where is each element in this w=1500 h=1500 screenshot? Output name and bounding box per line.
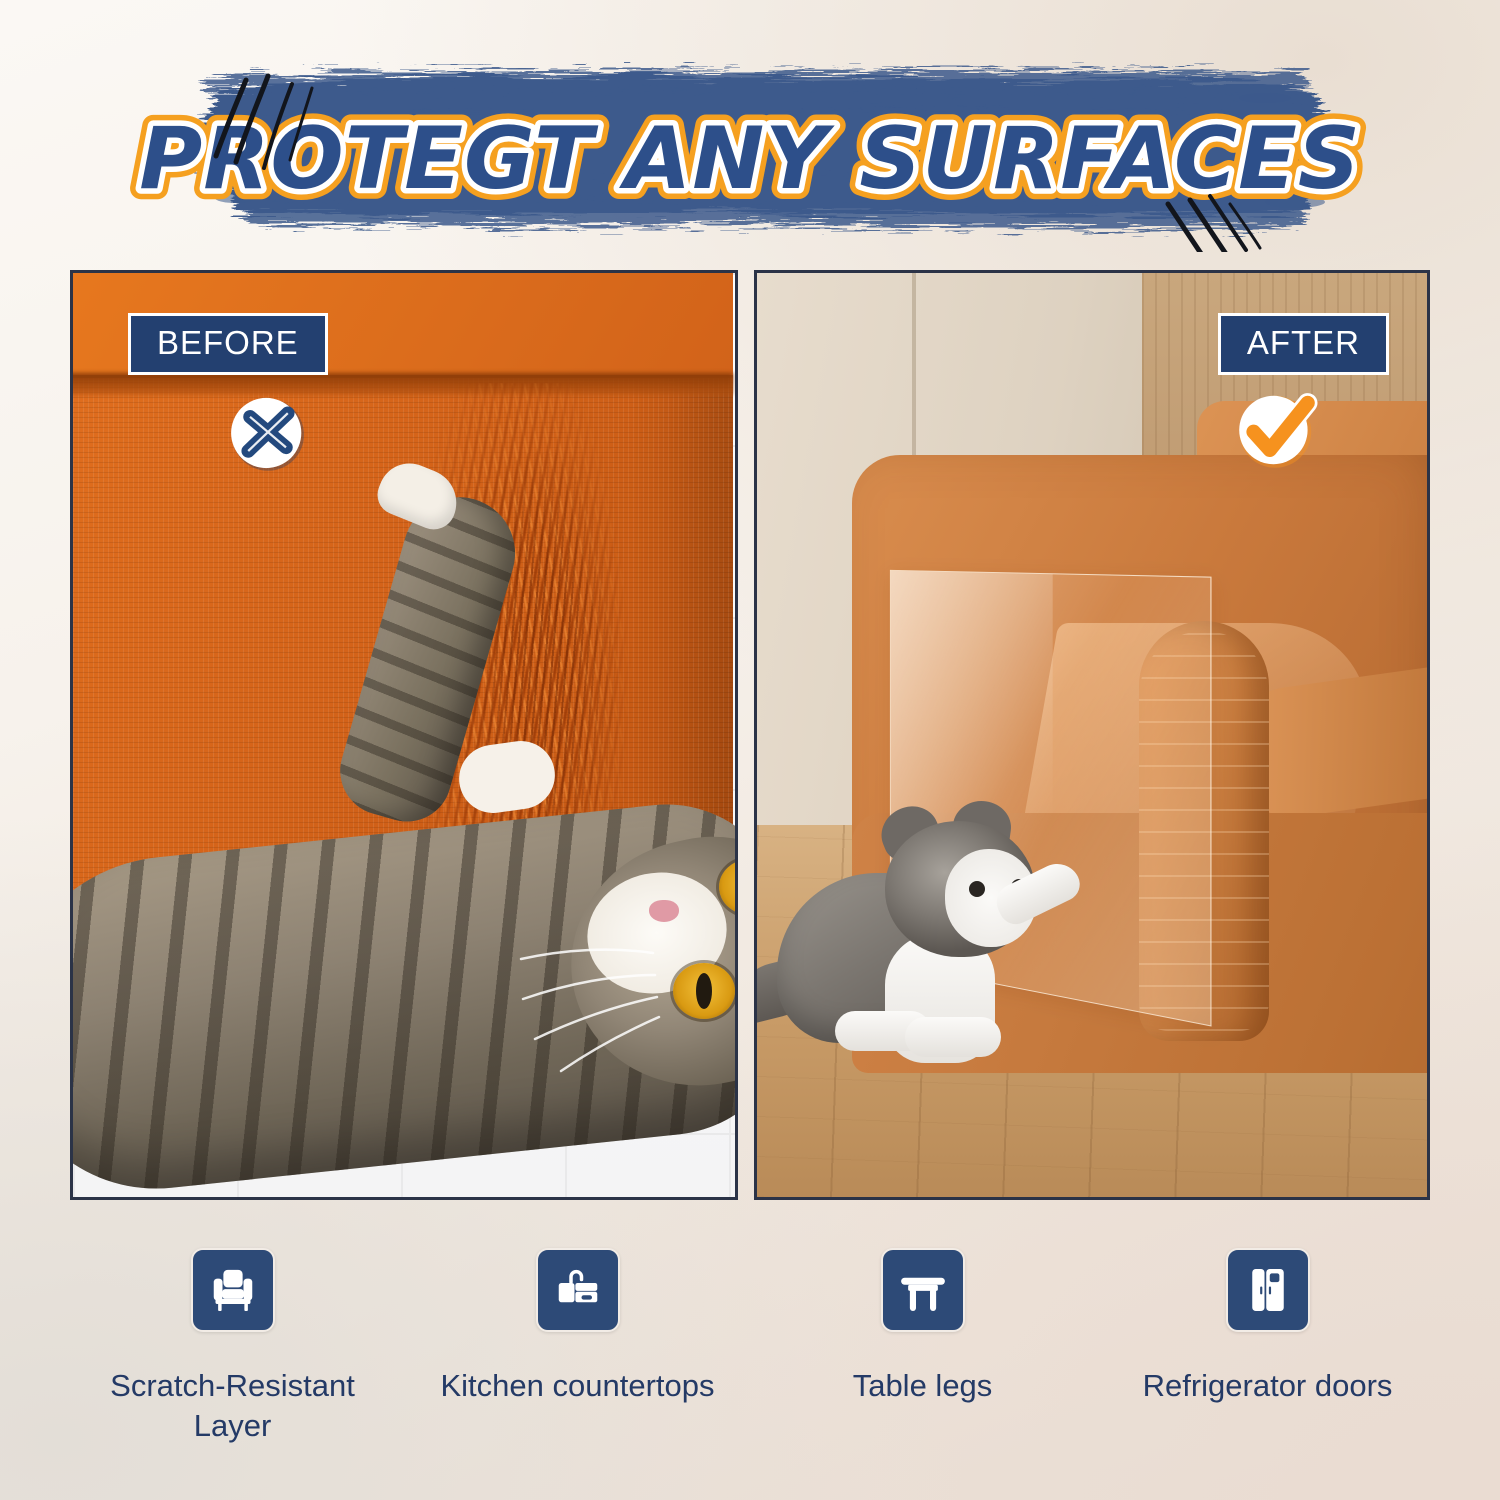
- page-title-fill: PROTEGT ANY SURFACES: [139, 109, 1361, 209]
- feature-item[interactable]: Table legs: [750, 1248, 1095, 1478]
- check-mark-icon: [1232, 385, 1322, 475]
- tabby-cat-whiskers: [503, 913, 738, 1113]
- table-icon: [881, 1248, 965, 1332]
- before-photo[interactable]: BEFORE: [70, 270, 738, 1200]
- before-badge: BEFORE: [128, 313, 328, 375]
- after-badge: AFTER: [1218, 313, 1389, 375]
- refrigerator-icon: [1226, 1248, 1310, 1332]
- before-after-comparison: BEFORE: [70, 270, 1430, 1200]
- feature-item[interactable]: Scratch-Resistant Layer: [60, 1248, 405, 1478]
- kitten-front-foot-right: [905, 1017, 1001, 1057]
- kitten-eye-left: [969, 881, 985, 897]
- after-photo[interactable]: AFTER: [754, 270, 1430, 1200]
- feature-item[interactable]: Refrigerator doors: [1095, 1248, 1440, 1478]
- x-mark-icon: [223, 388, 313, 478]
- header-banner: PROTEGT ANY SURFACES PROTEGT ANY SURFACE…: [0, 52, 1500, 252]
- armchair-icon: [191, 1248, 275, 1332]
- kitchen-sink-icon: [536, 1248, 620, 1332]
- feature-item[interactable]: Kitchen countertops: [405, 1248, 750, 1478]
- feature-label: Scratch-Resistant Layer: [83, 1366, 383, 1445]
- feature-label: Table legs: [853, 1366, 993, 1406]
- feature-label: Kitchen countertops: [440, 1366, 714, 1406]
- feature-label: Refrigerator doors: [1143, 1366, 1393, 1406]
- page-title: PROTEGT ANY SURFACES PROTEGT ANY SURFACE…: [0, 100, 1500, 220]
- feature-list: Scratch-Resistant Layer Kitchen countert…: [60, 1248, 1440, 1478]
